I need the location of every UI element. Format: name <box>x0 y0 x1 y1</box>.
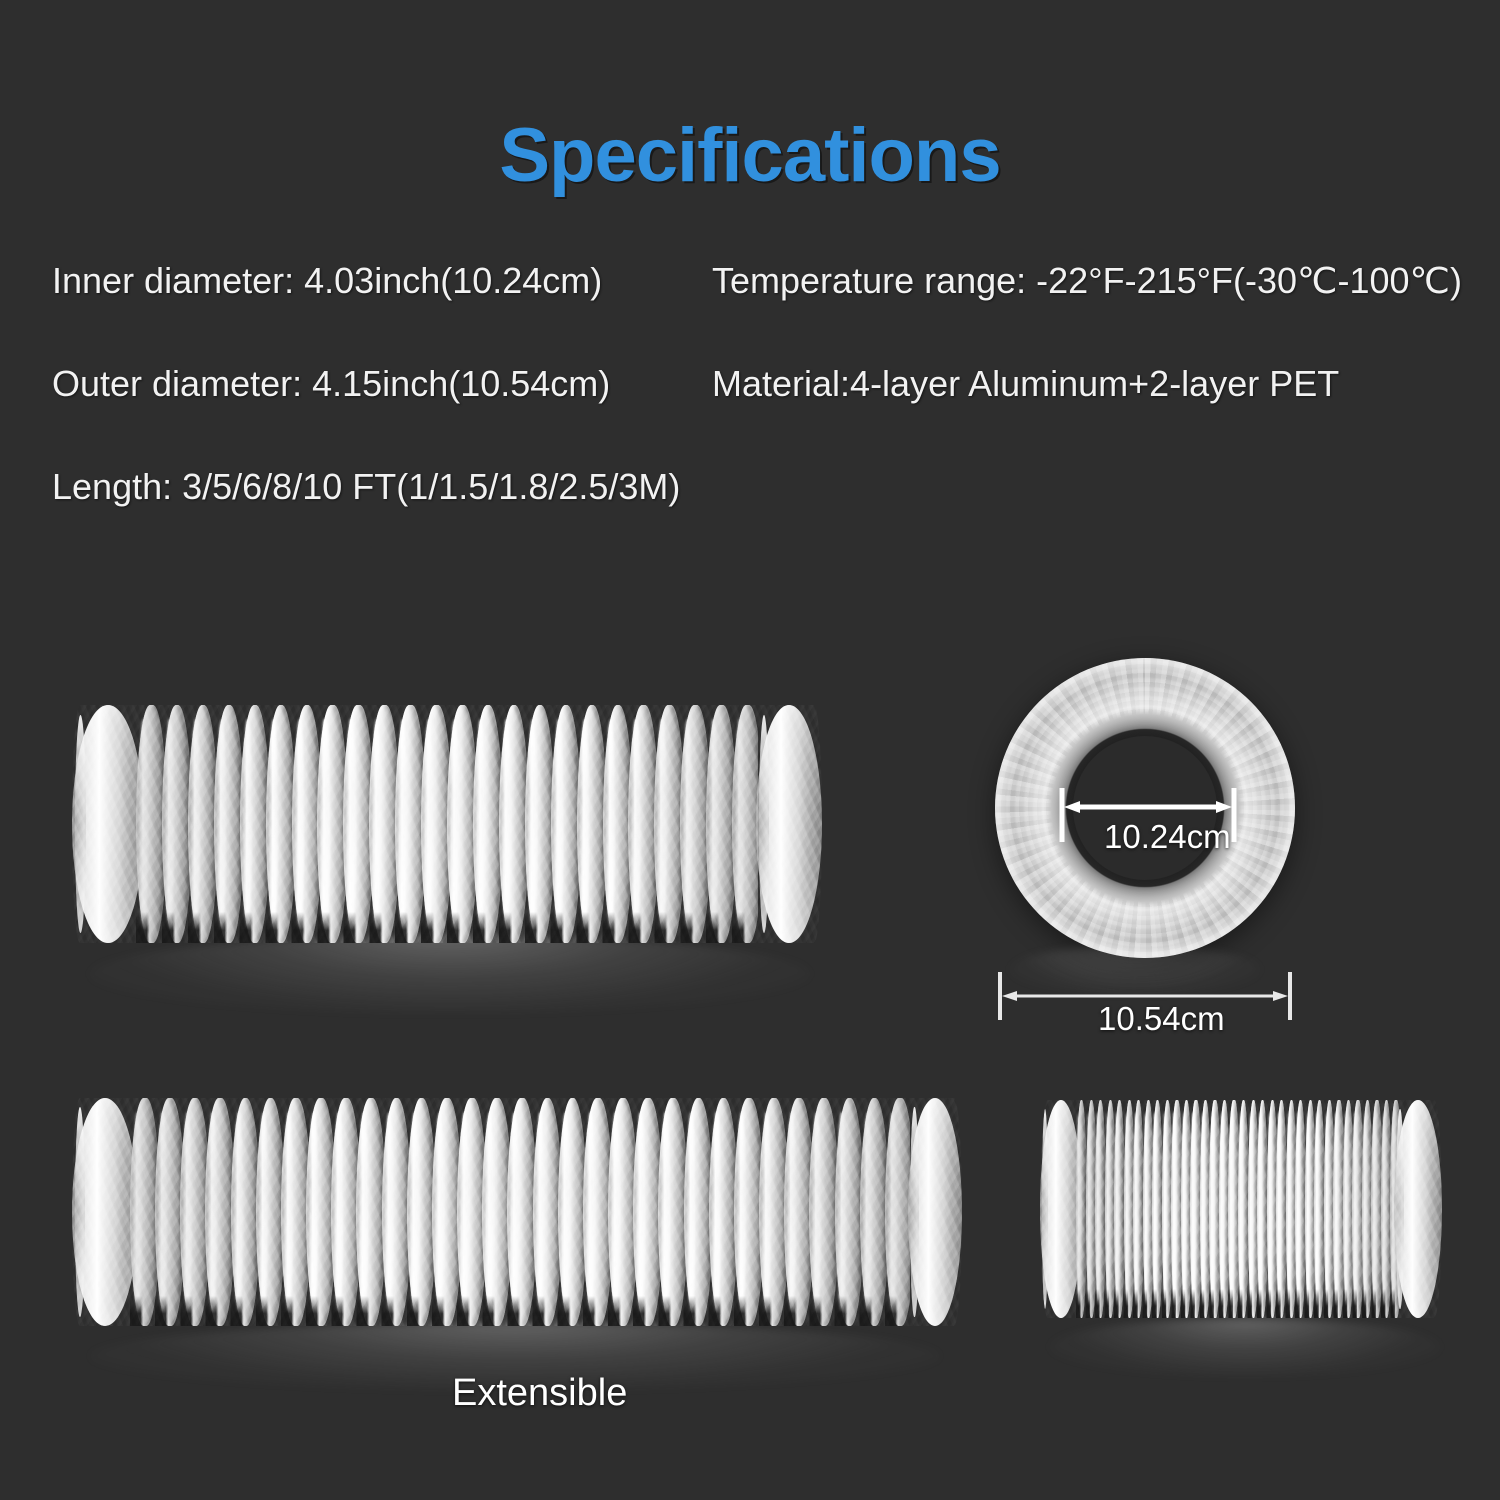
duct-rib <box>732 705 758 943</box>
duct-bottom-notches <box>130 1296 910 1326</box>
duct-bottom-right-image <box>1040 1100 1442 1318</box>
page-title: Specifications <box>0 112 1500 199</box>
duct-rib-group <box>130 1098 910 1326</box>
duct-corrugated-section <box>136 705 758 943</box>
duct-corrugated-section <box>1076 1100 1400 1318</box>
spec-outer-diameter: Outer diameter: 4.15inch(10.54cm) <box>52 363 610 405</box>
spec-temperature-range: Temperature range: -22°F-215°F(-30℃-100℃… <box>712 260 1462 302</box>
duct-rib <box>885 1098 910 1326</box>
spec-inner-diameter: Inner diameter: 4.03inch(10.24cm) <box>52 260 602 302</box>
spec-material: Material:4-layer Aluminum+2-layer PET <box>712 363 1339 405</box>
duct-body <box>72 1098 962 1326</box>
spec-length: Length: 3/5/6/8/10 FT(1/1.5/1.8/2.5/3M) <box>52 466 680 508</box>
duct-top-left-image <box>72 705 822 943</box>
duct-top-left-reflection <box>90 935 810 1013</box>
duct-bottom-notches <box>1076 1289 1400 1318</box>
duct-bottom-notches <box>136 912 758 943</box>
duct-bottom-left-image <box>72 1098 962 1326</box>
duct-body <box>72 705 822 943</box>
duct-end-collar-right <box>756 705 822 943</box>
specifications-page: Specifications Inner diameter: 4.03inch(… <box>0 0 1500 1500</box>
outer-diameter-dimension-label: 10.54cm <box>1098 1000 1225 1038</box>
extensible-caption: Extensible <box>452 1372 627 1415</box>
inner-diameter-dimension-label: 10.24cm <box>1104 818 1231 856</box>
duct-body <box>1040 1100 1442 1318</box>
duct-rib-group <box>1076 1100 1400 1318</box>
duct-bottom-right-reflection <box>1050 1318 1440 1376</box>
duct-end-collar-left <box>72 705 144 943</box>
duct-end-collar-left <box>72 1098 138 1326</box>
duct-corrugated-section <box>130 1098 910 1326</box>
duct-end-collar-right <box>908 1098 962 1326</box>
duct-rib-group <box>136 705 758 943</box>
duct-end-collar-right <box>1394 1100 1442 1318</box>
